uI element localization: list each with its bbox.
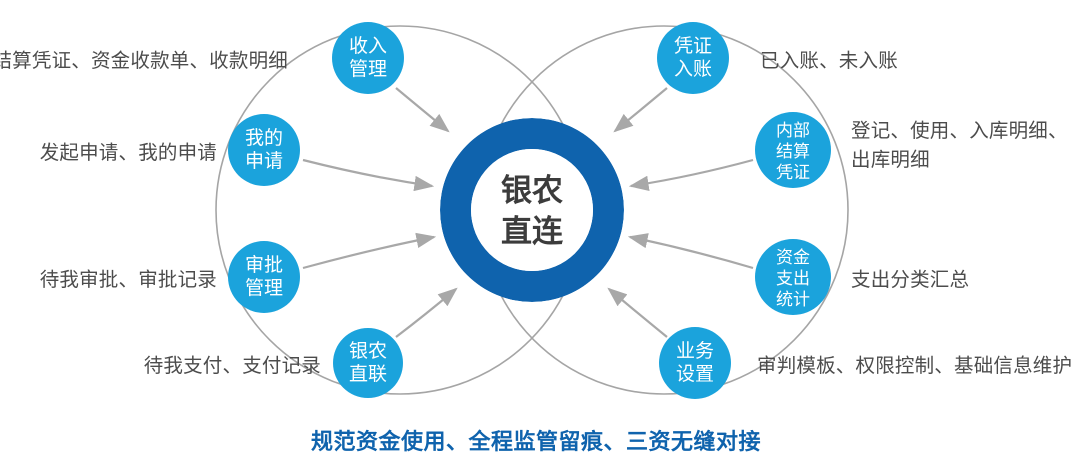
node-income-management-line2: 管理 [349,58,387,80]
node-my-application-line1: 我的 [245,127,283,149]
desc-business-settings: 审判模板、权限控制、基础信息维护 [757,352,1072,381]
node-fund-expenditure-statistics-line2: 支出 [776,269,810,288]
node-internal-settlement-voucher[interactable]: 内部 结算 凭证 [755,112,831,188]
arrow-approval-management [303,237,434,268]
arrow-fund-expenditure-statistics [630,237,753,268]
arrow-bank-agri-direct [396,289,456,337]
node-income-management-circle[interactable] [332,22,404,94]
right-nodes: 凭证 入账 内部 结算 凭证 资金 支出 统计 业务 设置 [657,22,831,399]
node-income-management[interactable]: 收入 管理 [332,22,404,94]
node-internal-settlement-voucher-line2: 结算 [776,142,810,161]
node-income-management-line1: 收入 [349,35,387,57]
node-bank-agri-direct-circle[interactable] [333,328,403,398]
node-bank-agri-direct-line2: 直联 [349,363,387,385]
hub: 银农 直连 [440,118,624,302]
desc-my-application: 发起申请、我的申请 [40,139,217,168]
desc-approval-management: 待我审批、审批记录 [40,266,217,295]
node-business-settings-line1: 业务 [676,340,714,362]
desc-fund-expenditure-statistics: 支出分类汇总 [851,266,969,295]
node-approval-management-circle[interactable] [228,241,300,313]
node-voucher-entry[interactable]: 凭证 入账 [657,22,729,94]
node-my-application-circle[interactable] [228,114,300,186]
node-fund-expenditure-statistics-line1: 资金 [776,248,810,267]
node-fund-expenditure-statistics-line3: 统计 [776,290,810,309]
arrow-income-management [396,88,448,131]
desc-income-management: 结算凭证、资金收款单、收款明细 [0,47,288,76]
diagram-canvas: 银农 直连 收入 管理 我的 申请 审批 管理 银农 直联 [0,0,1072,471]
tagline: 规范资金使用、全程监管留痕、三资无缝对接 [0,424,1072,456]
node-approval-management-line2: 管理 [245,277,283,299]
node-bank-agri-direct-line1: 银农 [349,340,387,362]
node-approval-management-line1: 审批 [245,254,283,276]
arrow-voucher-entry [615,88,667,131]
node-voucher-entry-circle[interactable] [657,22,729,94]
node-voucher-entry-line1: 凭证 [674,35,712,57]
node-bank-agri-direct[interactable]: 银农 直联 [333,328,403,398]
hub-label-line2: 直连 [501,214,564,249]
node-approval-management[interactable]: 审批 管理 [228,241,300,313]
node-internal-settlement-voucher-line3: 凭证 [776,163,810,182]
node-my-application[interactable]: 我的 申请 [228,114,300,186]
desc-voucher-entry: 已入账、未入账 [760,47,898,76]
desc-bank-agri-direct: 待我支付、支付记录 [144,352,321,381]
arrow-business-settings [609,289,667,337]
node-voucher-entry-line2: 入账 [674,58,712,80]
node-business-settings[interactable]: 业务 设置 [659,327,731,399]
node-business-settings-line2: 设置 [676,363,714,385]
node-my-application-line2: 申请 [245,150,283,172]
node-fund-expenditure-statistics[interactable]: 资金 支出 统计 [755,239,831,315]
hub-label-line1: 银农 [501,173,563,208]
node-internal-settlement-voucher-line1: 内部 [776,121,810,140]
node-business-settings-circle[interactable] [659,327,731,399]
hub-inner-disc [471,149,593,271]
desc-internal-settlement-voucher: 登记、使用、入库明细、 出库明细 [851,117,1068,175]
arrow-my-application [303,160,432,186]
left-nodes: 收入 管理 我的 申请 审批 管理 银农 直联 [228,22,404,398]
arrow-internal-settlement-voucher [631,160,753,186]
